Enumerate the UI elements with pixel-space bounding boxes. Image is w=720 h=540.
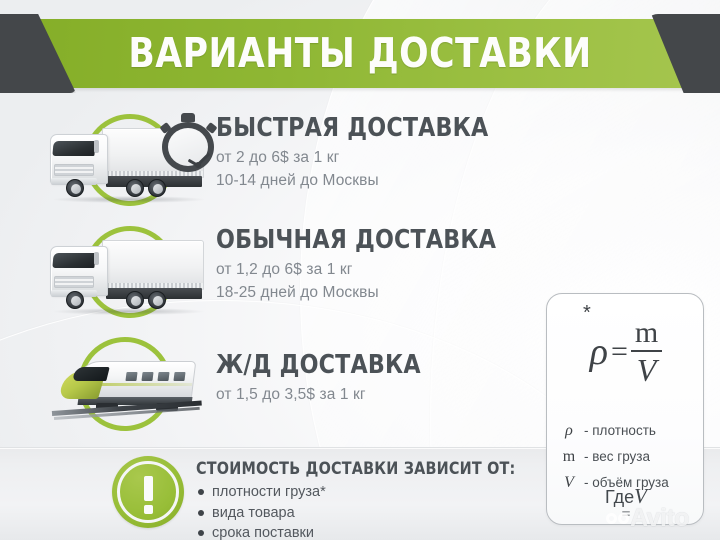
legend-row: ρ - плотность xyxy=(561,418,704,444)
formula-where-block: ГдеV = длина х ширина х высота xyxy=(547,484,704,525)
option-text-block: БЫСТРАЯ ДОСТАВКА от 2 до 6$ за 1 кг 10-1… xyxy=(216,114,536,192)
formula-equals-sign: = xyxy=(611,337,628,367)
density-formula-card: * ρ = m V ρ - плотность m - вес груза V … xyxy=(546,293,704,525)
option-eta: 10-14 дней до Москвы xyxy=(216,170,536,193)
page-title: ВАРИАНТЫ ДОСТАВКИ xyxy=(22,19,699,88)
formula-where-value: длина х ширина х высота xyxy=(547,523,704,525)
list-item: срока поставки xyxy=(196,523,536,540)
exclamation-circle-icon xyxy=(112,456,184,528)
legend-text: - вес груза xyxy=(584,446,650,468)
formula-where-equals: = xyxy=(547,511,704,519)
footer-heading: СТОИМОСТЬ ДОСТАВКИ ЗАВИСИТ ОТ: xyxy=(196,459,526,478)
list-item: вида товара xyxy=(196,503,536,524)
truck-icon xyxy=(44,236,212,314)
option-price: от 1,2 до 6$ за 1 кг xyxy=(216,259,536,282)
option-artwork xyxy=(38,106,218,214)
legend-symbol: ρ xyxy=(561,418,577,444)
formula-where-label: Где xyxy=(605,487,634,507)
formula-denominator: V xyxy=(633,352,661,388)
option-heading: Ж/Д ДОСТАВКА xyxy=(216,351,520,379)
footer-section: СТОИМОСТЬ ДОСТАВКИ ЗАВИСИТ ОТ: плотности… xyxy=(0,447,560,540)
train-icon xyxy=(52,353,202,427)
option-eta: 18-25 дней до Москвы xyxy=(216,282,536,305)
option-artwork xyxy=(38,218,218,326)
formula-numerator: m xyxy=(631,316,662,349)
legend-text: - плотность xyxy=(584,420,656,442)
option-text-block: ОБЫЧНАЯ ДОСТАВКА от 1,2 до 6$ за 1 кг 18… xyxy=(216,226,536,304)
legend-symbol: m xyxy=(561,444,577,470)
list-item: плотности груза* xyxy=(196,482,536,503)
formula-rho-symbol: ρ xyxy=(590,333,608,371)
formula-fraction: m V xyxy=(631,318,662,386)
option-price: от 2 до 6$ за 1 кг xyxy=(216,147,536,170)
formula-expression: ρ = m V xyxy=(547,318,704,386)
option-text-block: Ж/Д ДОСТАВКА от 1,5 до 3,5$ за 1 кг xyxy=(216,351,536,407)
option-price: от 1,5 до 3,5$ за 1 кг xyxy=(216,384,536,407)
delivery-option-fast: БЫСТРАЯ ДОСТАВКА от 2 до 6$ за 1 кг 10-1… xyxy=(0,106,540,214)
delivery-option-regular: ОБЫЧНАЯ ДОСТАВКА от 1,2 до 6$ за 1 кг 18… xyxy=(0,218,540,326)
delivery-option-rail: Ж/Д ДОСТАВКА от 1,5 до 3,5$ за 1 кг xyxy=(0,331,540,439)
header-banner: ВАРИАНТЫ ДОСТАВКИ xyxy=(0,0,720,104)
option-artwork xyxy=(38,331,218,439)
footer-text-block: СТОИМОСТЬ ДОСТАВКИ ЗАВИСИТ ОТ: плотности… xyxy=(196,459,536,540)
formula-where-symbol: V xyxy=(634,484,647,508)
legend-row: m - вес груза xyxy=(561,444,704,470)
option-heading: ОБЫЧНАЯ ДОСТАВКА xyxy=(216,226,520,254)
footer-factor-list: плотности груза* вида товара срока поста… xyxy=(196,482,536,540)
option-heading: БЫСТРАЯ ДОСТАВКА xyxy=(216,114,520,142)
stopwatch-icon xyxy=(158,110,220,172)
poster-canvas: ВАРИАНТЫ ДОСТАВКИ xyxy=(0,0,720,540)
